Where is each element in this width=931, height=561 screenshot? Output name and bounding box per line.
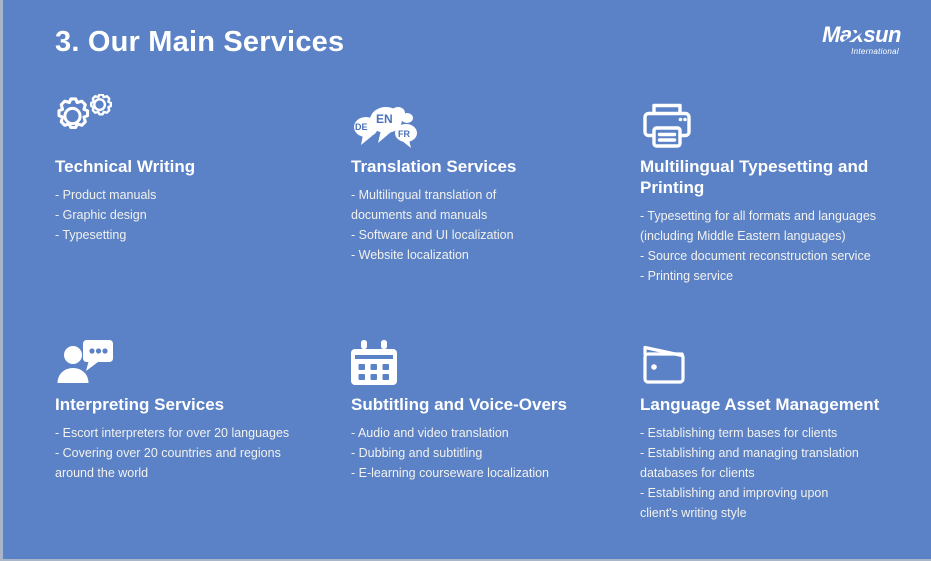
list-item: - Covering over 20 countries and regions xyxy=(55,443,355,463)
printer-icon xyxy=(640,92,902,150)
list-item: - Printing service xyxy=(640,266,902,286)
service-card-typesetting-printing: Multilingual Typesetting and Printing - … xyxy=(640,92,902,286)
list-item: - Audio and video translation xyxy=(351,423,651,443)
service-title: Translation Services xyxy=(351,156,651,177)
list-item: - E-learning courseware localization xyxy=(351,463,651,483)
list-item: - Establishing and managing translation xyxy=(640,443,908,463)
list-item: around the world xyxy=(55,463,355,483)
speech-bubbles-language-icon: DE EN FR xyxy=(351,92,651,150)
service-card-subtitling-voiceovers: Subtitling and Voice-Overs - Audio and v… xyxy=(351,330,651,483)
list-item: - Typesetting xyxy=(55,225,355,245)
wallet-icon xyxy=(640,330,908,388)
service-title: Subtitling and Voice-Overs xyxy=(351,394,651,415)
calendar-icon xyxy=(351,330,651,388)
list-item: - Product manuals xyxy=(55,185,355,205)
list-item: - Establishing term bases for clients xyxy=(640,423,908,443)
presentation-slide: 3. Our Main Services Maxsun Internationa… xyxy=(0,0,931,561)
service-card-technical-writing: Technical Writing - Product manuals - Gr… xyxy=(55,92,355,245)
service-card-interpreting-services: Interpreting Services - Escort interpret… xyxy=(55,330,355,483)
page-title: 3. Our Main Services xyxy=(55,26,344,59)
list-item: - Website localization xyxy=(351,245,651,265)
logo-wordmark: Maxsun xyxy=(809,24,901,46)
list-item: - Graphic design xyxy=(55,205,355,225)
list-item: (including Middle Eastern languages) xyxy=(640,226,902,246)
list-item: - Multilingual translation of xyxy=(351,185,651,205)
bubble-label-de: DE xyxy=(355,122,368,132)
service-detail-list: - Establishing term bases for clients - … xyxy=(640,423,908,523)
service-detail-list: - Audio and video translation - Dubbing … xyxy=(351,423,651,483)
service-title: Multilingual Typesetting and Printing xyxy=(640,156,902,198)
list-item: - Establishing and improving upon xyxy=(640,483,908,503)
list-item: - Dubbing and subtitling xyxy=(351,443,651,463)
list-item: - Source document reconstruction service xyxy=(640,246,902,266)
service-detail-list: - Product manuals - Graphic design - Typ… xyxy=(55,185,355,245)
bubble-label-fr: FR xyxy=(398,129,410,139)
gears-icon xyxy=(55,92,355,150)
list-item: client's writing style xyxy=(640,503,908,523)
service-title: Technical Writing xyxy=(55,156,355,177)
service-detail-list: - Multilingual translation of documents … xyxy=(351,185,651,265)
person-speech-bubble-icon xyxy=(55,330,355,388)
company-logo: Maxsun International xyxy=(809,24,901,58)
bubble-label-en: EN xyxy=(376,112,393,126)
logo-tagline: International xyxy=(809,47,901,57)
service-detail-list: - Escort interpreters for over 20 langua… xyxy=(55,423,355,483)
list-item: - Typesetting for all formats and langua… xyxy=(640,206,902,226)
list-item: - Software and UI localization xyxy=(351,225,651,245)
service-title: Interpreting Services xyxy=(55,394,355,415)
list-item: documents and manuals xyxy=(351,205,651,225)
list-item: databases for clients xyxy=(640,463,908,483)
list-item: - Escort interpreters for over 20 langua… xyxy=(55,423,355,443)
service-title: Language Asset Management xyxy=(640,394,908,415)
service-detail-list: - Typesetting for all formats and langua… xyxy=(640,206,902,286)
service-card-translation-services: DE EN FR Translation Services - Multilin… xyxy=(351,92,651,265)
service-card-language-asset-management: Language Asset Management - Establishing… xyxy=(640,330,908,523)
